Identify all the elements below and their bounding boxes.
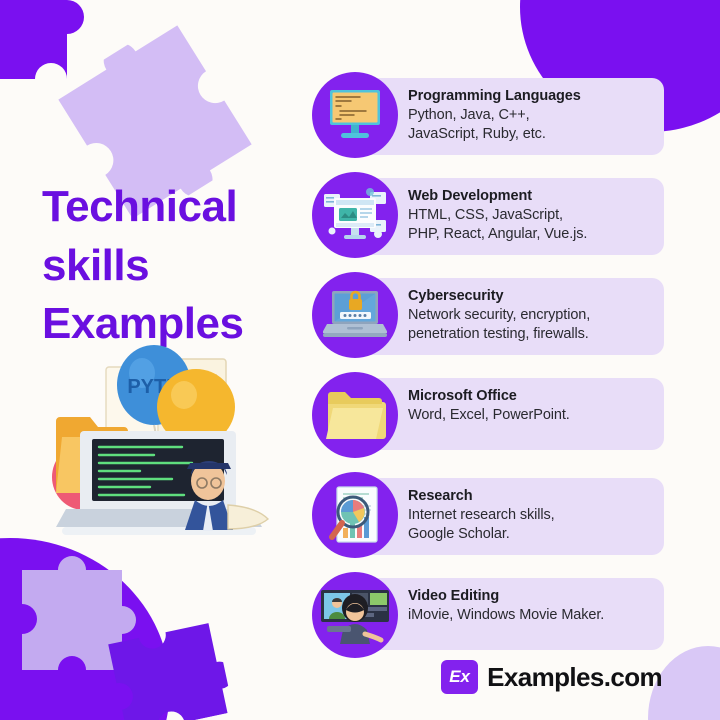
skill-title: Research [408,487,650,505]
skill-description-line: Python, Java, C++, [408,106,650,125]
brand-logo[interactable]: Ex Examples.com [441,660,662,694]
skill-description-line: Internet research skills, [408,506,650,525]
brand-mark-icon: Ex [441,660,478,694]
list-item[interactable]: Research Internet research skills, Googl… [312,472,664,557]
pie-chart [341,500,365,524]
list-item[interactable]: Microsoft Office Word, Excel, PowerPoint… [312,372,664,457]
skill-description-line: Network security, encryption, [408,306,650,325]
skill-description: Word, Excel, PowerPoint. [408,406,650,425]
list-item[interactable]: Cybersecurity Network security, encrypti… [312,272,664,357]
list-item[interactable]: Web Development HTML, CSS, JavaScript, P… [312,172,664,257]
monitor-code-icon [312,72,398,158]
poster-canvas: Technical skills Examples PYTH [0,0,720,720]
skill-description-line: PHP, React, Angular, Vue.js. [408,225,650,244]
skill-title: Web Development [408,187,650,205]
skill-card: Video Editing iMovie, Windows Movie Make… [360,578,664,650]
skill-description: Python, Java, C++, JavaScript, Ruby, etc… [408,106,650,145]
skill-card: Programming Languages Python, Java, C++,… [360,78,664,155]
skill-title: Programming Languages [408,87,650,105]
skill-description: Network security, encryption, penetratio… [408,306,650,345]
video-editing-icon [312,572,398,658]
laptop-lock-icon [312,272,398,358]
list-item[interactable]: Video Editing iMovie, Windows Movie Make… [312,572,664,657]
skill-title: Video Editing [408,587,650,605]
skill-description-line: iMovie, Windows Movie Maker. [408,606,650,625]
skill-title: Cybersecurity [408,287,650,305]
skill-description-line: JavaScript, Ruby, etc. [408,125,650,144]
skill-description: HTML, CSS, JavaScript, PHP, React, Angul… [408,206,650,245]
list-item[interactable]: Programming Languages Python, Java, C++,… [312,72,664,157]
skill-title: Microsoft Office [408,387,650,405]
skill-card: Web Development HTML, CSS, JavaScript, P… [360,178,664,255]
page-title-line-1: Technical [42,178,304,237]
web-development-icon [312,172,398,258]
page-title-line-2: skills [42,237,304,296]
skills-list: Programming Languages Python, Java, C++,… [312,72,664,657]
skill-description-line: Word, Excel, PowerPoint. [408,406,650,425]
page-title: Technical skills Examples [42,178,304,354]
skill-description: Internet research skills, Google Scholar… [408,506,650,545]
skill-description-line: penetration testing, firewalls. [408,325,650,344]
brand-name: Examples.com [487,662,662,693]
skill-description-line: Google Scholar. [408,525,650,544]
skill-card: Cybersecurity Network security, encrypti… [360,278,664,355]
scroll-illustration [228,505,268,529]
skill-description: iMovie, Windows Movie Maker. [408,606,650,625]
folder-icon [312,372,398,458]
magnifier-chart-icon [312,472,398,558]
skill-card: Microsoft Office Word, Excel, PowerPoint… [360,378,664,450]
programming-illustration: PYTH PHP [32,345,280,545]
skill-description-line: HTML, CSS, JavaScript, [408,206,650,225]
skill-card: Research Internet research skills, Googl… [360,478,664,555]
